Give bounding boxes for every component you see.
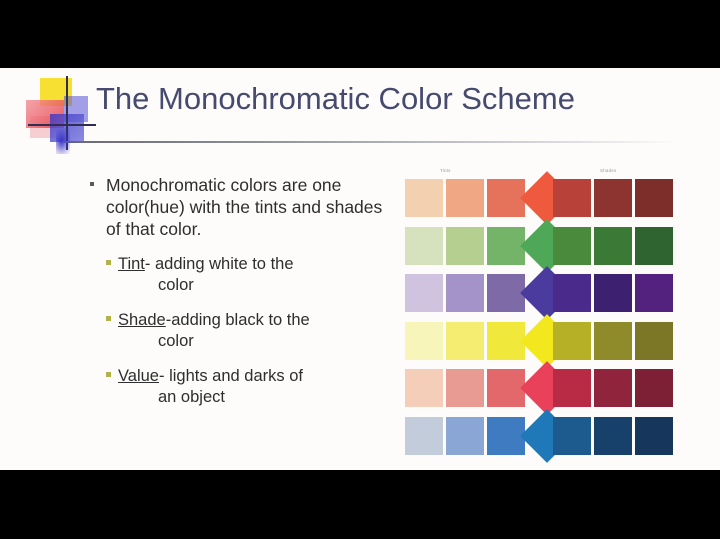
definition-term: Tint (118, 255, 145, 273)
definition-continuation: an object (118, 387, 388, 408)
tint-swatch-rose-1 (405, 369, 443, 407)
shade-swatch-green-1 (553, 227, 591, 265)
color-row-red-orange (404, 179, 672, 217)
shade-swatch-yellow-2 (594, 322, 632, 360)
slide-body: Monochromatic colors are one color(hue) … (88, 174, 388, 408)
definition-continuation: color (118, 275, 388, 296)
definition-text: adding black to the (171, 311, 310, 329)
shade-swatch-red-orange-3 (635, 179, 673, 217)
shade-swatch-violet-1 (553, 274, 591, 312)
letterbox-bottom (0, 470, 720, 539)
definition-text: adding white to the (150, 255, 293, 273)
definition-item-value: Value- lights and darks of an object (88, 366, 388, 408)
shade-swatch-violet-3 (635, 274, 673, 312)
sub-bullet-marker-icon (106, 260, 111, 265)
tint-swatch-blue-2 (446, 417, 484, 455)
presentation-slide: The Monochromatic Color Scheme Monochrom… (0, 68, 720, 470)
title-divider (62, 141, 680, 143)
tint-swatch-green-1 (405, 227, 443, 265)
shade-swatch-violet-2 (594, 274, 632, 312)
tint-swatch-red-orange-2 (446, 179, 484, 217)
bullet-text: Monochromatic colors are one color(hue) … (106, 175, 382, 239)
tint-swatch-violet-2 (446, 274, 484, 312)
tint-swatch-blue-1 (405, 417, 443, 455)
shade-swatch-green-2 (594, 227, 632, 265)
shade-swatch-rose-1 (553, 369, 591, 407)
letterbox-top (0, 0, 720, 68)
color-row-violet (404, 274, 672, 312)
bullet-item: Monochromatic colors are one color(hue) … (88, 174, 388, 240)
color-row-rose (404, 369, 672, 407)
tint-swatch-green-2 (446, 227, 484, 265)
monochromatic-color-chart: Tints Shades (404, 168, 672, 460)
shade-swatch-rose-2 (594, 369, 632, 407)
slide-header: The Monochromatic Color Scheme (0, 68, 720, 164)
video-frame: The Monochromatic Color Scheme Monochrom… (0, 0, 720, 539)
shade-swatch-blue-3 (635, 417, 673, 455)
shade-swatch-green-3 (635, 227, 673, 265)
definition-continuation: color (118, 331, 388, 352)
definition-term: Value (118, 367, 159, 385)
color-row-yellow (404, 322, 672, 360)
shade-swatch-blue-2 (594, 417, 632, 455)
slide-title: The Monochromatic Color Scheme (96, 78, 696, 120)
shade-swatch-rose-3 (635, 369, 673, 407)
shade-swatch-yellow-1 (553, 322, 591, 360)
tint-swatch-red-orange-1 (405, 179, 443, 217)
tint-swatch-yellow-2 (446, 322, 484, 360)
sub-bullet-marker-icon (106, 372, 111, 377)
shade-swatch-blue-1 (553, 417, 591, 455)
tint-swatch-rose-2 (446, 369, 484, 407)
shade-swatch-red-orange-2 (594, 179, 632, 217)
definition-term: Shade (118, 311, 166, 329)
chart-column-header-tints: Tints (440, 168, 451, 173)
shade-swatch-yellow-3 (635, 322, 673, 360)
shade-swatch-red-orange-1 (553, 179, 591, 217)
tint-swatch-yellow-1 (405, 322, 443, 360)
logo-horizontal-line (28, 124, 96, 126)
tint-swatch-violet-1 (405, 274, 443, 312)
sub-bullet-marker-icon (106, 316, 111, 321)
color-row-blue (404, 417, 672, 455)
chart-column-header-shades: Shades (600, 168, 616, 173)
color-row-green (404, 227, 672, 265)
definition-text: lights and darks of (164, 367, 303, 385)
definition-item-shade: Shade-adding black to the color (88, 310, 388, 352)
definition-item-tint: Tint- adding white to the color (88, 254, 388, 296)
bullet-marker-icon (90, 182, 94, 186)
